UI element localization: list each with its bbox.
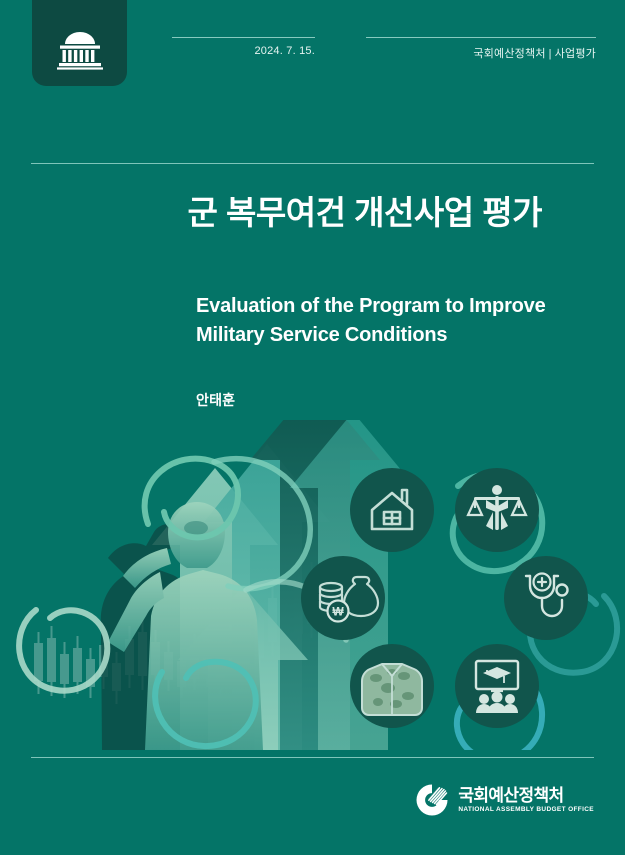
icon-circle-pay: ₩	[301, 556, 385, 640]
nabo-swoosh-logo-icon	[415, 783, 449, 817]
icon-circle-education	[455, 644, 539, 728]
organization-name-ko: 국회예산정책처	[458, 787, 594, 804]
page-title-english: Evaluation of the Program to Improve Mil…	[196, 292, 596, 350]
title-divider-rule	[31, 163, 594, 164]
publisher-meta: 국회예산정책처|사업평가	[366, 45, 596, 61]
nabo-footer-wordmark: 국회예산정책처 NATIONAL ASSEMBLY BUDGET OFFICE	[458, 787, 594, 814]
header-rule-meta	[366, 37, 596, 38]
meta-separator: |	[549, 48, 552, 60]
icon-circle-uniform	[350, 644, 434, 728]
author-name: 안태훈	[196, 390, 235, 410]
organization-name-en: NATIONAL ASSEMBLY BUDGET OFFICE	[458, 807, 594, 814]
icon-circle-housing	[350, 468, 434, 552]
page-title-english-line1: Evaluation of the Program to Improve	[196, 295, 546, 317]
camouflage-uniform-icon	[362, 664, 422, 715]
national-assembly-building-icon	[53, 30, 107, 70]
publication-date: 2024. 7. 15.	[172, 45, 315, 57]
svg-text:₩: ₩	[332, 605, 344, 619]
report-category: 사업평가	[555, 48, 596, 60]
report-cover-page: 2024. 7. 15. 국회예산정책처|사업평가 군 복무여건 개선사업 평가…	[0, 0, 625, 855]
page-title-english-line2: Military Service Conditions	[196, 324, 447, 346]
page-title-korean: 군 복무여건 개선사업 평가	[31, 186, 594, 234]
illustration-artwork: ₩	[0, 420, 625, 750]
cover-illustration: ₩	[0, 420, 625, 750]
icon-circle-fairness	[455, 468, 539, 552]
national-assembly-emblem-badge	[32, 0, 127, 86]
publisher-name: 국회예산정책처	[473, 48, 545, 60]
footer-divider-rule	[31, 757, 594, 758]
nabo-footer-logo: 국회예산정책처 NATIONAL ASSEMBLY BUDGET OFFICE	[415, 783, 594, 817]
header-rule-date	[172, 37, 315, 38]
icon-circle-medical	[504, 556, 588, 640]
